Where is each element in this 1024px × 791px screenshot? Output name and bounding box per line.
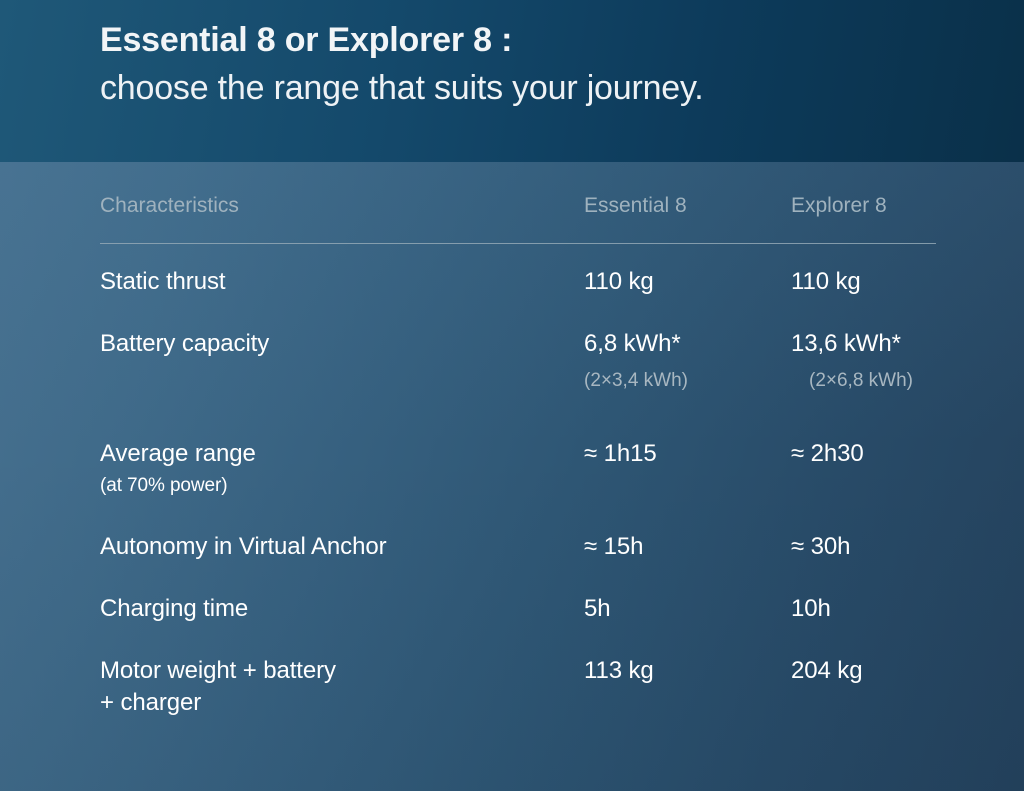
table-row: Battery capacity 6,8 kWh* (2×3,4 kWh) 13…	[100, 306, 936, 396]
table-header-row: Characteristics Essential 8 Explorer 8	[100, 192, 936, 243]
table-row: Average range (at 70% power) ≈ 1h15 ≈ 2h…	[100, 416, 936, 501]
comparison-slide: Essential 8 or Explorer 8 : choose the r…	[0, 0, 1024, 791]
row-value-explorer-8: 204 kg	[791, 655, 936, 687]
row-value-explorer-8: ≈ 2h30	[791, 438, 936, 470]
row-value-essential-8: 5h	[584, 593, 791, 625]
row-value-explorer-8: 13,6 kWh*	[791, 328, 936, 360]
title-block: Essential 8 or Explorer 8 : choose the r…	[100, 17, 960, 113]
row-subvalue-explorer-8: (2×6,8 kWh)	[791, 366, 936, 396]
row-value-essential-8: 110 kg	[584, 266, 791, 298]
row-value-essential-8: ≈ 15h	[584, 531, 791, 563]
header-divider	[100, 243, 936, 244]
row-value-explorer-8: 110 kg	[791, 266, 936, 298]
row-label: Average range	[100, 438, 584, 470]
row-label: Charging time	[100, 593, 584, 625]
row-spacer	[100, 396, 936, 416]
row-subvalue-essential-8: (2×3,4 kWh)	[584, 366, 791, 396]
header-band: Essential 8 or Explorer 8 : choose the r…	[0, 0, 1024, 162]
column-header-essential-8: Essential 8	[584, 192, 791, 220]
row-label: Battery capacity	[100, 328, 584, 360]
column-header-explorer-8: Explorer 8	[791, 192, 936, 220]
page-title-line-1: Essential 8 or Explorer 8 :	[100, 17, 960, 63]
comparison-body: Characteristics Essential 8 Explorer 8 S…	[0, 162, 1024, 791]
row-value-essential-8: 113 kg	[584, 655, 791, 687]
column-header-characteristics: Characteristics	[100, 192, 584, 220]
page-title-line-2: choose the range that suits your journey…	[100, 63, 960, 113]
row-spacer	[100, 501, 936, 509]
comparison-table: Characteristics Essential 8 Explorer 8 S…	[100, 192, 936, 719]
table-row: Motor weight + battery + charger 113 kg …	[100, 633, 936, 719]
row-spacer	[100, 298, 936, 306]
row-spacer	[100, 563, 936, 571]
row-label-sub: (at 70% power)	[100, 470, 584, 501]
table-row: Autonomy in Virtual Anchor ≈ 15h ≈ 30h	[100, 509, 936, 563]
row-label: Motor weight + battery	[100, 655, 584, 687]
row-value-explorer-8: ≈ 30h	[791, 531, 936, 563]
row-value-essential-8: 6,8 kWh*	[584, 328, 791, 360]
table-row: Static thrust 110 kg 110 kg	[100, 244, 936, 298]
row-value-essential-8: ≈ 1h15	[584, 438, 791, 470]
row-label: Autonomy in Virtual Anchor	[100, 531, 584, 563]
row-spacer	[100, 625, 936, 633]
row-value-explorer-8: 10h	[791, 593, 936, 625]
row-label-sub: + charger	[100, 687, 584, 719]
table-row: Charging time 5h 10h	[100, 571, 936, 625]
row-label: Static thrust	[100, 266, 584, 298]
